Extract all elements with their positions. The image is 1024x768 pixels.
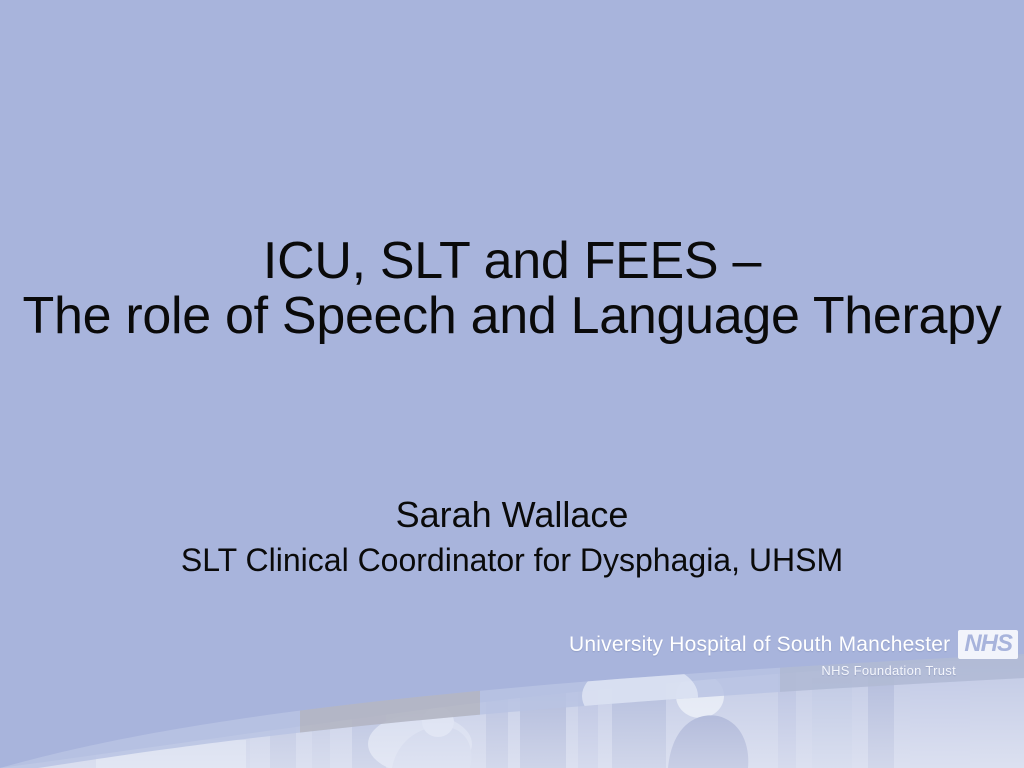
presenter-role: SLT Clinical Coordinator for Dysphagia, … — [0, 538, 1024, 582]
slide-subtitle: Sarah Wallace SLT Clinical Coordinator f… — [0, 492, 1024, 582]
presenter-name: Sarah Wallace — [0, 492, 1024, 538]
title-line-2: The role of Speech and Language Therapy — [0, 289, 1024, 344]
slide-title: ICU, SLT and FEES – The role of Speech a… — [0, 234, 1024, 344]
trust-name-row: University Hospital of South Manchester … — [569, 630, 1018, 659]
trust-name: University Hospital of South Manchester — [569, 634, 950, 655]
presentation-slide: ICU, SLT and FEES – The role of Speech a… — [0, 0, 1024, 768]
title-line-1: ICU, SLT and FEES – — [0, 234, 1024, 289]
trust-type: NHS Foundation Trust — [569, 664, 956, 677]
nhs-trust-branding: University Hospital of South Manchester … — [569, 630, 1018, 677]
nhs-logo: NHS — [958, 630, 1018, 659]
